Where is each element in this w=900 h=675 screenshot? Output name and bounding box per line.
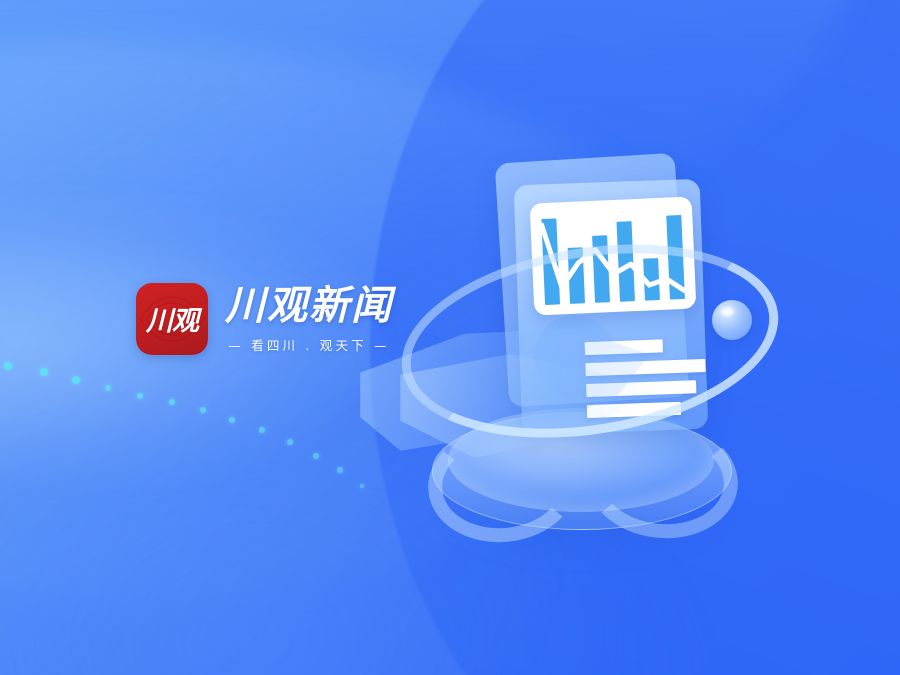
logo-mark-icon: 川观 [136, 283, 208, 355]
accent-dot [259, 427, 265, 433]
promo-banner: 川观 川观新闻 — 看四川 . 观天下 — [0, 0, 900, 675]
accent-dot [137, 393, 144, 400]
accent-dot [337, 467, 342, 472]
brand-logo: 川观 川观新闻 — 看四川 . 观天下 — [136, 283, 393, 355]
accent-dot [72, 376, 79, 383]
brand-wordmark-group: 川观新闻 — 看四川 . 观天下 — [225, 283, 393, 354]
data-report-illustration [390, 140, 790, 560]
accent-dot [200, 407, 206, 413]
accent-dot [287, 439, 293, 445]
accent-dot [4, 362, 12, 370]
brand-wordmark: 川观新闻 [225, 285, 393, 327]
brand-tagline: — 看四川 . 观天下 — [228, 335, 389, 354]
accent-dot [313, 453, 319, 459]
orbit-knob-sphere [712, 300, 752, 340]
accent-dot [169, 399, 176, 406]
accent-dot [360, 484, 365, 489]
accent-dot [40, 368, 47, 375]
accent-dot [229, 417, 235, 423]
accent-dot [105, 385, 112, 392]
logo-mark-label: 川观 [136, 283, 208, 355]
